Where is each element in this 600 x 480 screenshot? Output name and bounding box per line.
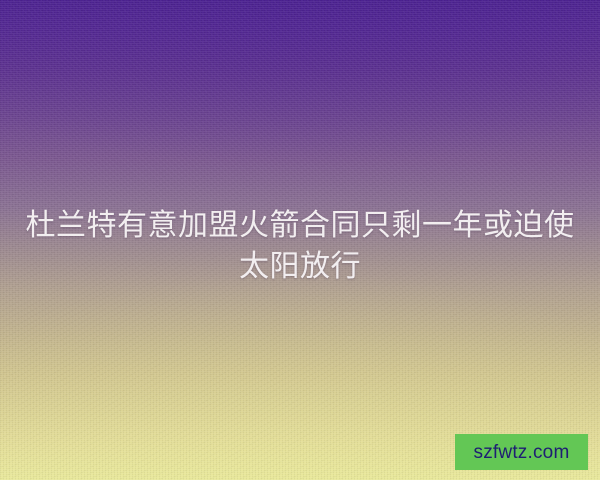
article-banner: 杜兰特有意加盟火箭合同只剩一年或迫使 太阳放行 szfwtz.com bbox=[0, 0, 600, 480]
headline-text: 杜兰特有意加盟火箭合同只剩一年或迫使 太阳放行 bbox=[0, 205, 600, 287]
watermark-badge: szfwtz.com bbox=[455, 434, 588, 470]
watermark-label: szfwtz.com bbox=[474, 443, 570, 462]
